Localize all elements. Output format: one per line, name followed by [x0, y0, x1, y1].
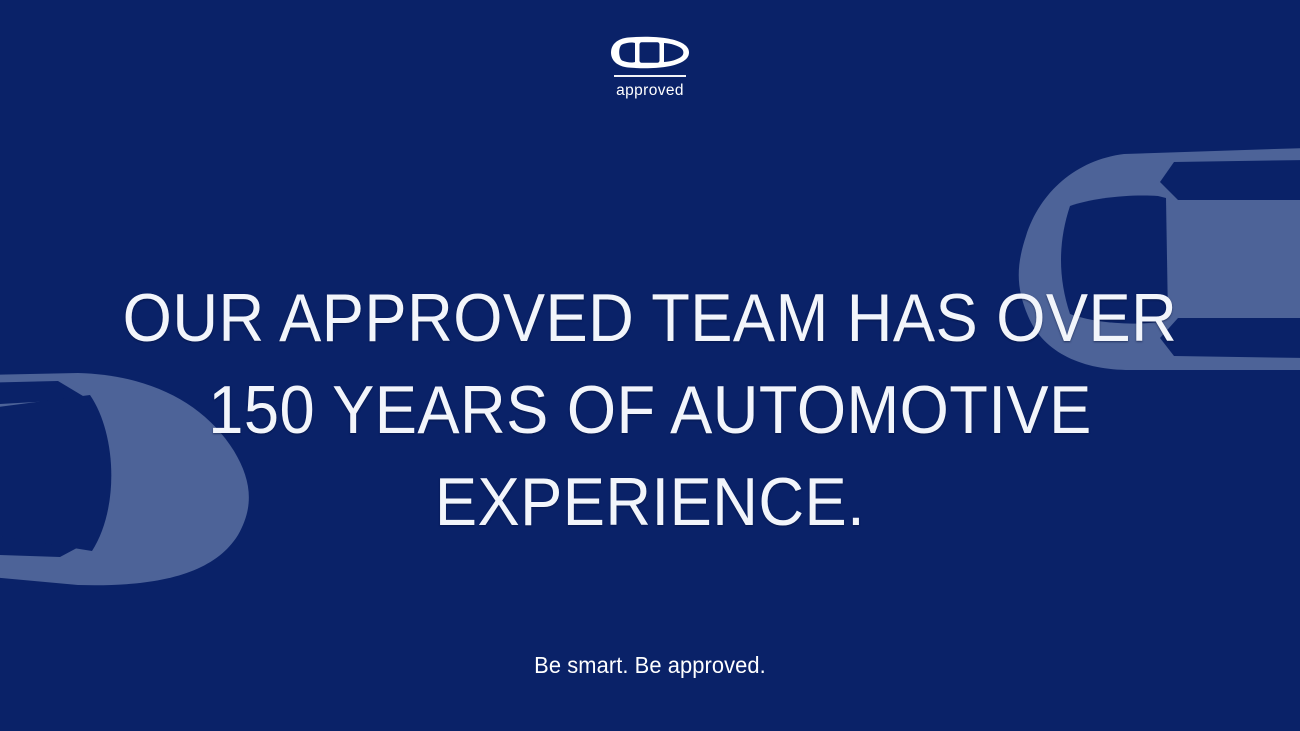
car-top-view-icon	[611, 36, 689, 69]
headline-line-3: EXPERIENCE.	[46, 456, 1255, 548]
logo-wordmark: approved	[616, 83, 684, 99]
page-title: OUR APPROVED TEAM HAS OVER 150 YEARS OF …	[46, 272, 1255, 548]
tagline: Be smart. Be approved.	[33, 654, 1268, 677]
slide-canvas: approved OUR APPROVED TEAM HAS OVER 150 …	[0, 0, 1300, 731]
brand-logo: approved	[0, 36, 1300, 99]
headline-line-2: 150 YEARS OF AUTOMOTIVE	[46, 364, 1255, 456]
logo-divider	[614, 75, 686, 77]
headline-line-1: OUR APPROVED TEAM HAS OVER	[46, 272, 1255, 364]
